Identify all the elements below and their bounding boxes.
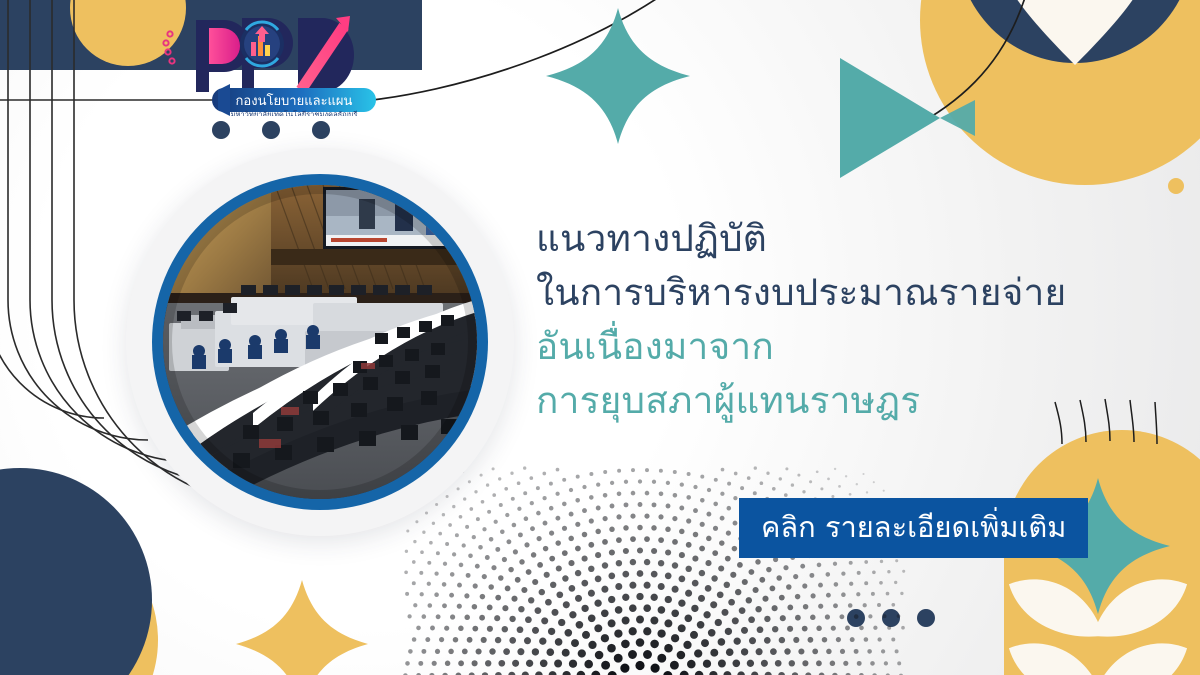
logo-banner-text: กองนโยบายและแผน: [236, 93, 353, 109]
headline-block: แนวทางปฏิบัติ ในการบริหารงบประมาณรายจ่าย…: [536, 212, 1156, 428]
headline-line-2: ในการบริหารงบประมาณรายจ่าย: [536, 266, 1156, 320]
headline-line-3: อันเนื่องมาจาก: [536, 320, 1156, 374]
ppd-logo[interactable]: กองนโยบายและแผน มหาวิทยาลัยเทคโนโลยีราชม…: [158, 12, 388, 116]
more-details-button-label: คลิก รายละเอียดเพิ่มเติม: [761, 510, 1066, 544]
bar-chart-icon: [240, 22, 284, 66]
headline-line-4: การยุบสภาผู้แทนราษฎร: [536, 374, 1156, 428]
parliament-chamber-photo: [163, 185, 477, 499]
more-details-button[interactable]: คลิก รายละเอียดเพิ่มเติม: [739, 498, 1088, 558]
poster-canvas: กองนโยบายและแผน มหาวิทยาลัยเทคโนโลยีราชม…: [0, 0, 1200, 675]
headline-line-1: แนวทางปฏิบัติ: [536, 212, 1156, 266]
logo-subtitle-text: มหาวิทยาลัยเทคโนโลยีราชมงคลธัญบุรี: [231, 110, 358, 116]
